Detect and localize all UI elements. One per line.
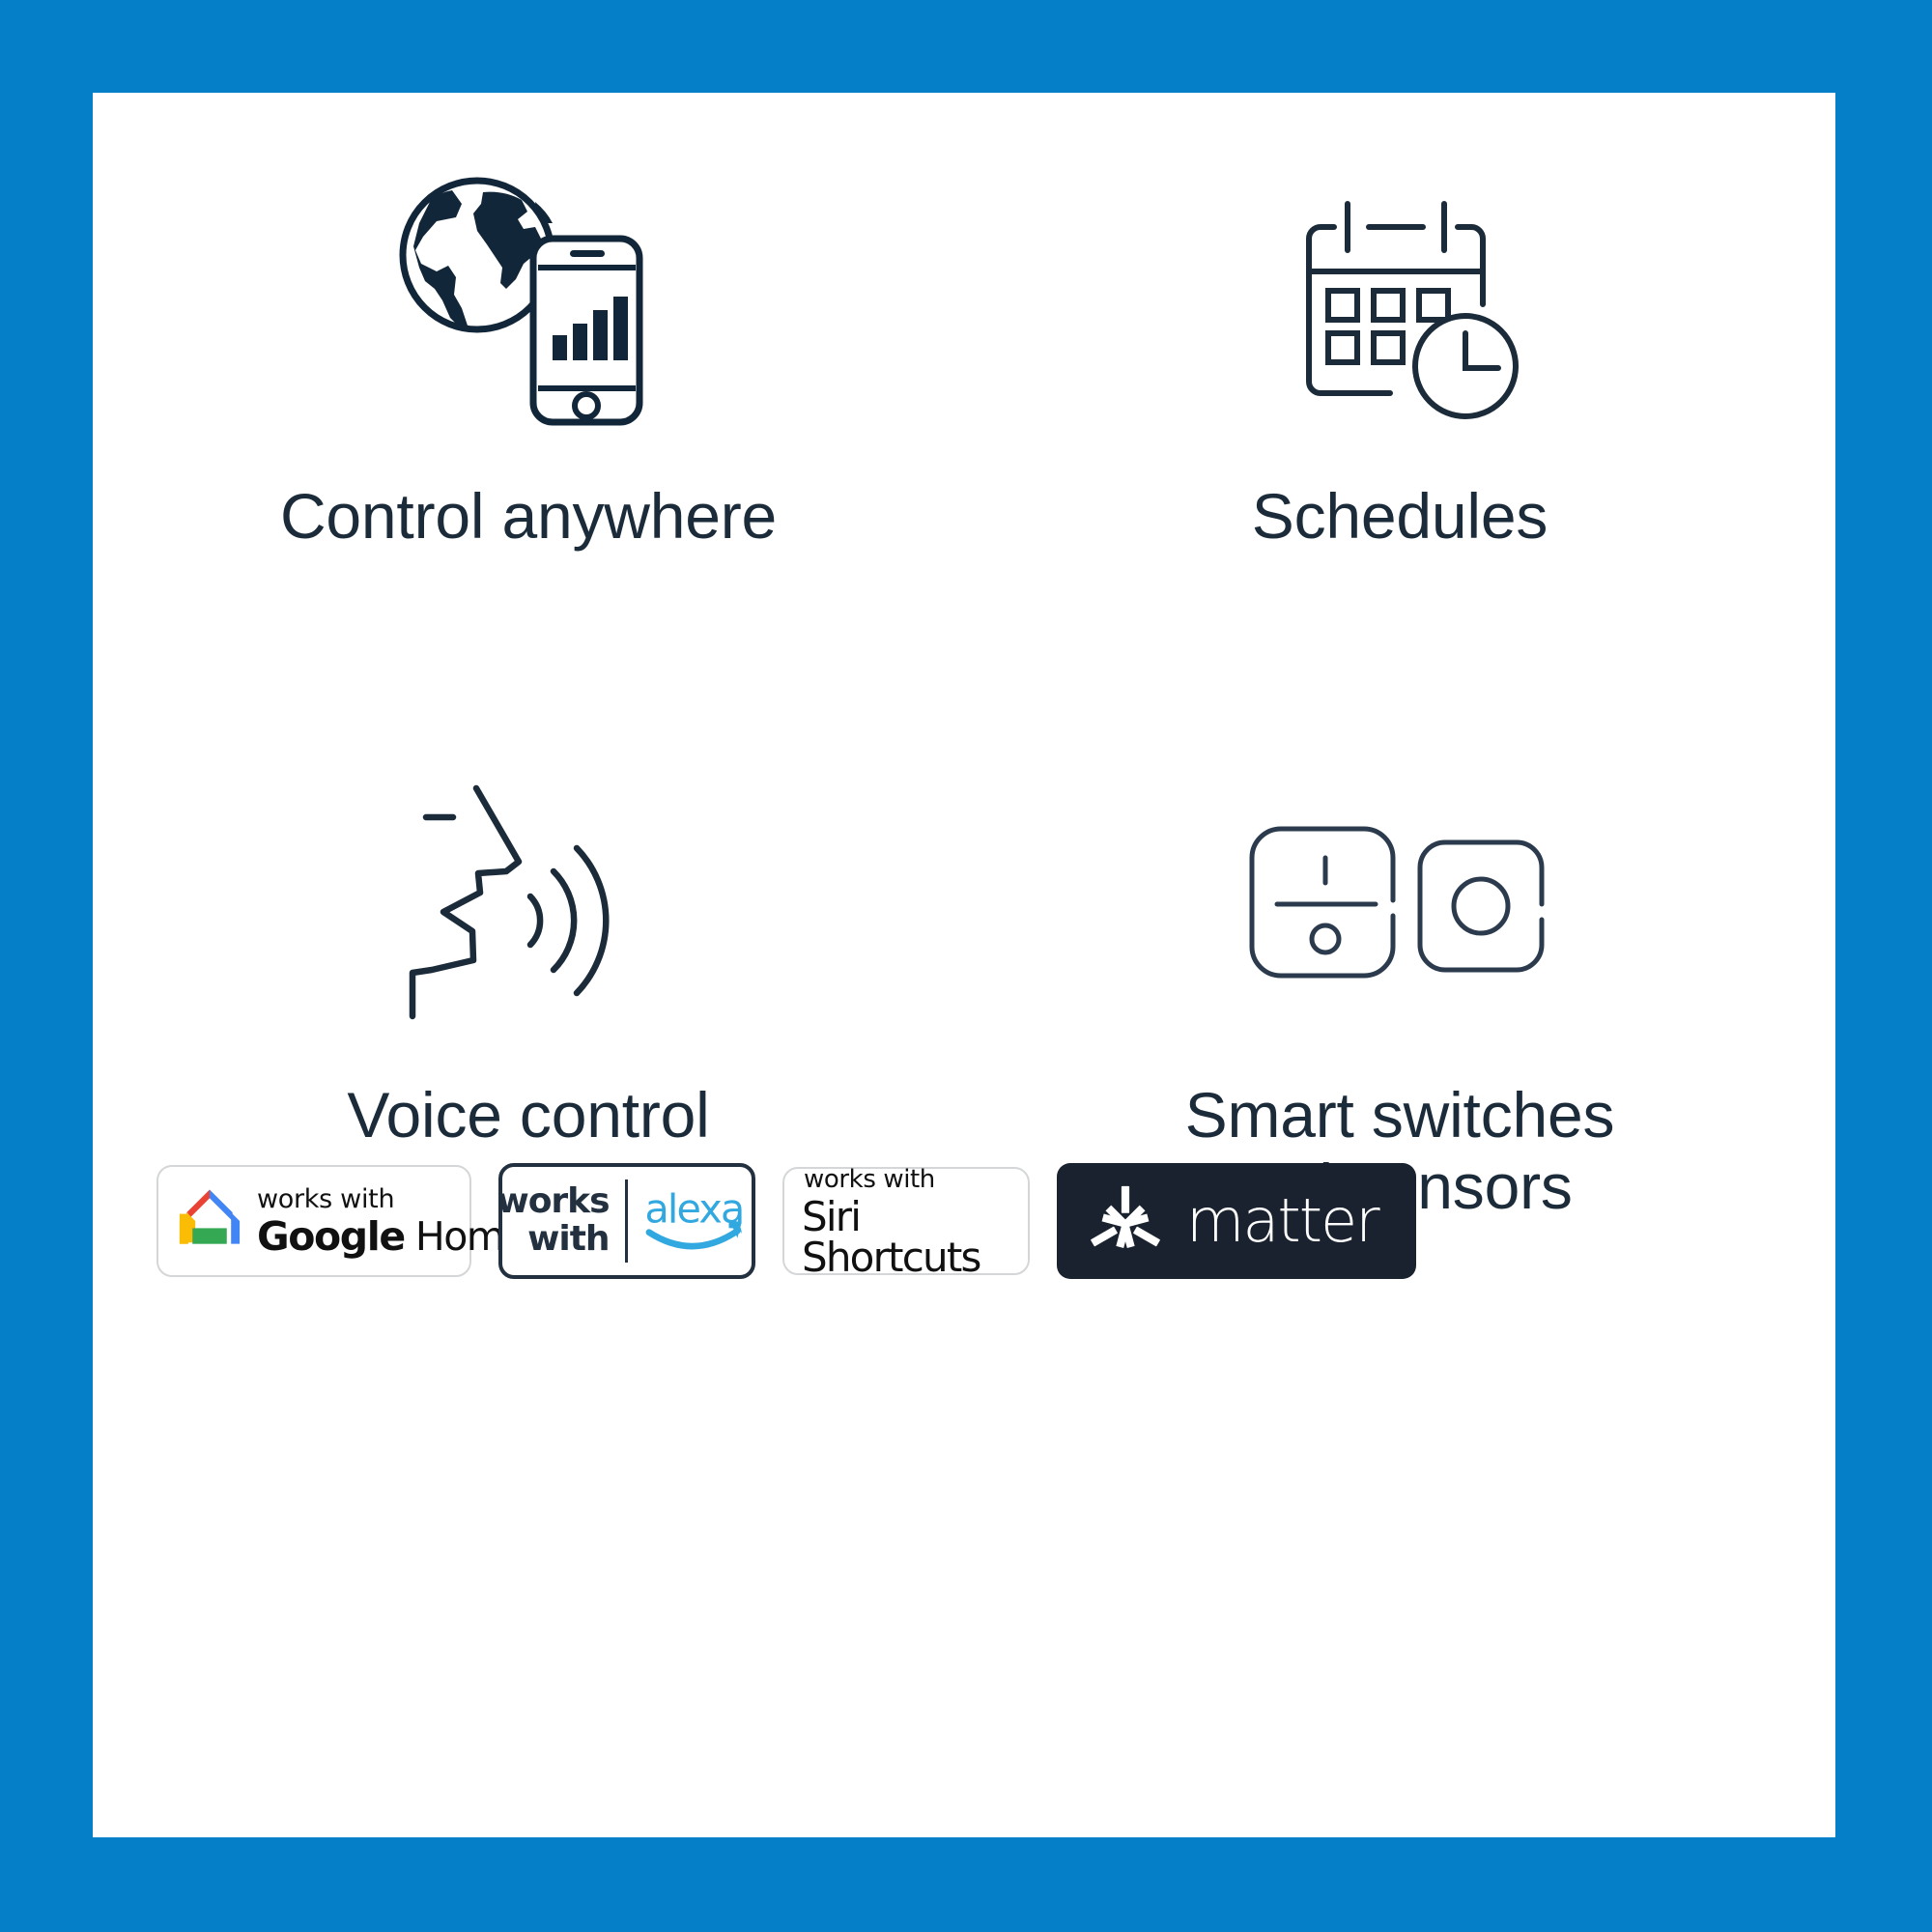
google-home-text: works with Google Home <box>257 1186 526 1257</box>
svg-text:alexa: alexa <box>644 1185 743 1232</box>
feature-control-anywhere: Control anywhere <box>93 149 964 748</box>
works-with-alexa-badge[interactable]: works with alexa <box>498 1163 755 1279</box>
works-label: works <box>497 1183 609 1221</box>
compatibility-badge-row: works with Google Home works with alexa <box>156 1163 1799 1279</box>
works-with-siri-shortcuts-badge[interactable]: works with Siri Shortcuts <box>782 1167 1030 1275</box>
google-home-brand: Google Home <box>257 1217 526 1257</box>
speaking-head-soundwaves-icon <box>397 757 648 1047</box>
alexa-works-with-text: works with <box>497 1183 609 1259</box>
brand-google: Google <box>257 1217 405 1257</box>
globe-and-phone-icon <box>381 158 670 448</box>
works-with-label: works with <box>257 1186 526 1212</box>
white-content-card: Control anywhere <box>93 93 1835 1837</box>
matter-badge[interactable]: matter <box>1057 1163 1416 1279</box>
alexa-wordmark-icon: alexa <box>643 1185 757 1257</box>
feature-schedules: Schedules <box>964 149 1835 748</box>
matter-wordmark: matter <box>1186 1191 1378 1251</box>
works-with-google-home-badge[interactable]: works with Google Home <box>156 1165 471 1277</box>
siri-shortcuts-brand: Siri Shortcuts <box>802 1197 1010 1278</box>
with-label: with <box>497 1221 609 1259</box>
feature-label: Voice control <box>347 1080 709 1151</box>
google-home-house-icon <box>174 1185 245 1257</box>
calendar-clock-icon <box>1282 158 1523 448</box>
matter-arrows-icon <box>1086 1181 1165 1261</box>
works-with-label: works with <box>804 1165 935 1194</box>
switch-and-sensor-icon <box>1238 757 1567 1047</box>
badge-divider <box>625 1179 628 1263</box>
promo-graphic: Control anywhere <box>0 0 1932 1932</box>
feature-label: Schedules <box>1252 481 1548 553</box>
feature-label: Control anywhere <box>280 481 777 553</box>
